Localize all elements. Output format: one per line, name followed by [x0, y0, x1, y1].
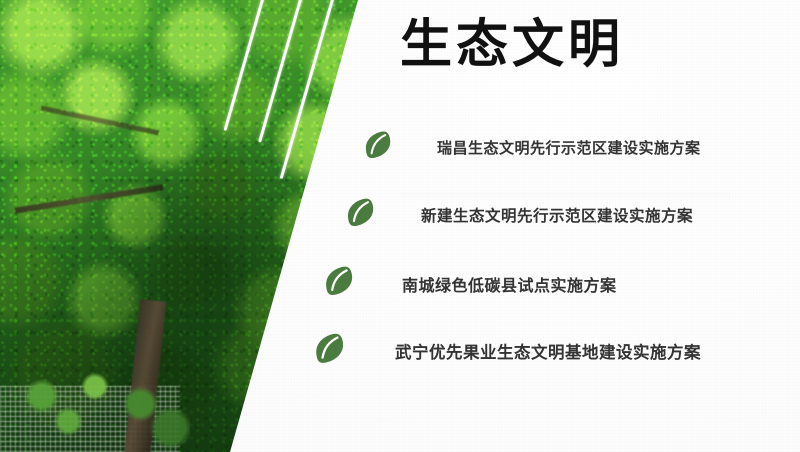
list-item-label: 武宁优先果业生态文明基地建设实施方案 [395, 339, 701, 363]
list-item-label: 新建生态文明先行示范区建设实施方案 [421, 204, 693, 226]
list-item-label: 南城绿色低碳县试点实施方案 [402, 272, 617, 296]
leaf-icon [312, 333, 345, 369]
leaf-icon [362, 131, 392, 164]
list-item[interactable]: 武宁优先果业生态文明基地建设实施方案 [312, 333, 701, 369]
leaf-icon [322, 266, 354, 301]
list-item[interactable]: 瑞昌生态文明先行示范区建设实施方案 [362, 131, 701, 164]
slide-canvas: 生态文明 瑞昌生态文明先行示范区建设实施方案 新建生态文明先行示范区建设实施方案 [0, 0, 800, 452]
leaf-icon [344, 198, 375, 232]
list-item-label: 瑞昌生态文明先行示范区建设实施方案 [437, 137, 701, 158]
foreground-shrub [0, 372, 190, 452]
page-title: 生态文明 [400, 17, 624, 74]
list-item[interactable]: 南城绿色低碳县试点实施方案 [322, 266, 617, 301]
list-item[interactable]: 新建生态文明先行示范区建设实施方案 [344, 198, 693, 232]
